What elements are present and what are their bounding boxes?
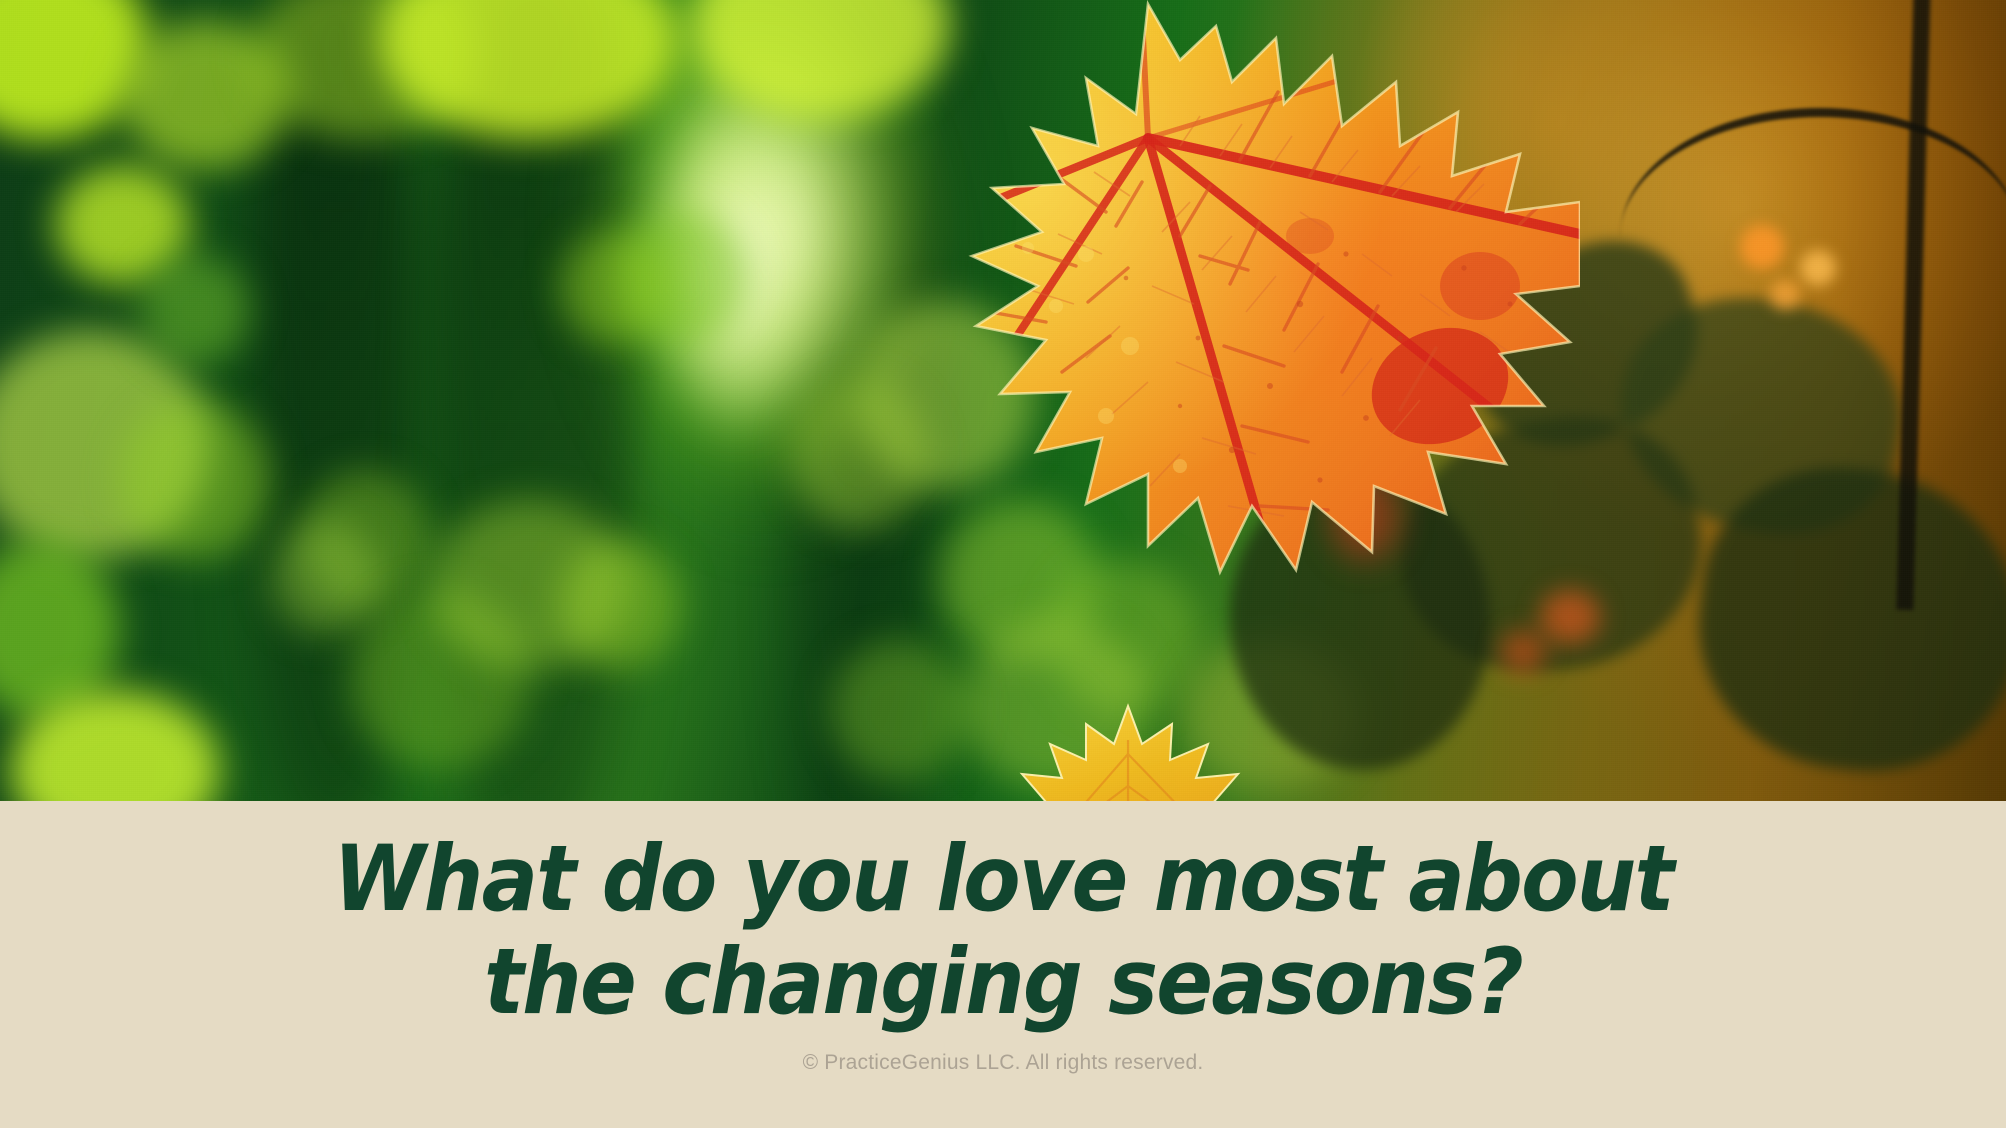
hero-photo	[0, 0, 2006, 801]
bokeh-blob	[1800, 250, 1836, 286]
bokeh-blob	[1770, 280, 1800, 310]
bokeh-blob	[830, 640, 970, 780]
caption-bar: What do you love most about the changing…	[0, 801, 2006, 1128]
bokeh-blob	[120, 400, 270, 560]
copyright-notice: © PracticeGenius LLC. All rights reserve…	[0, 1051, 2006, 1075]
bokeh-blob	[140, 255, 250, 365]
secondary-leaf	[1000, 700, 1260, 801]
maple-leaf	[880, 0, 1580, 646]
slide-canvas: What do you love most about the changing…	[0, 0, 2006, 1128]
bokeh-blob	[560, 230, 670, 345]
page-title: What do you love most about the changing…	[80, 829, 1926, 1035]
bokeh-blob	[430, 500, 630, 670]
bokeh-blob	[270, 520, 380, 635]
